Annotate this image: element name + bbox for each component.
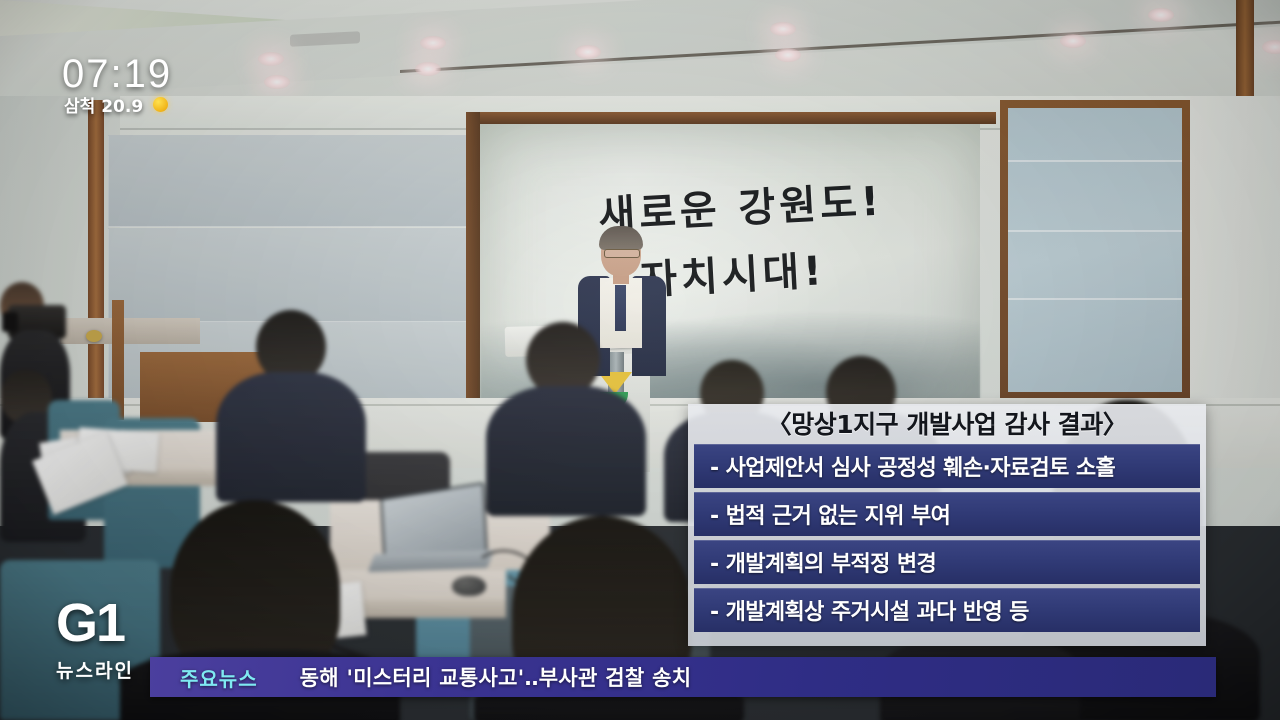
program-name: 뉴스라인 [56,656,134,683]
panel-row: - 법적 근거 없는 지위 부여 [694,492,1200,536]
channel-logo-mark: G1 [56,596,134,650]
panel-title: 〈망상1지구 개발사업 감사 결과〉 [694,408,1200,442]
news-ticker: 주요뉴스 동해 '미스터리 교통사고'‥부사관 검찰 송치 [150,657,1216,697]
audit-results-panel: 〈망상1지구 개발사업 감사 결과〉 - 사업제안서 심사 공정성 훼손·자료검… [688,404,1206,646]
broadcast-screenshot: 새로운 강원도! 자치시대! 자치시대! [0,0,1280,720]
attendee-body [216,372,366,502]
back-desk-top [60,318,200,344]
speaker-hair [599,226,643,250]
weather-location-temp: 삼척 20.9 [64,92,143,117]
ceiling-light [258,52,284,66]
ceiling-light [770,22,796,36]
panel-row-text: - 개발계획의 부적정 변경 [710,546,936,578]
ceiling-light [415,62,441,76]
ceiling-light [1060,34,1086,48]
channel-logo: G1 뉴스라인 [56,596,134,683]
ceiling-light [575,45,601,59]
speaker-glasses [604,249,640,258]
backdrop-frame-top [466,112,996,124]
attendee-body [486,386,646,516]
backdrop-frame-left [466,112,480,412]
backdrop-slogan-line2: 자치시대! [639,238,827,306]
frosted-glass [1008,108,1182,392]
sun-icon [153,97,168,112]
on-screen-clock: 07:19 [62,52,172,97]
left-wall-panel [108,228,470,322]
panel-row-text: - 법적 근거 없는 지위 부여 [710,498,950,530]
panel-row: - 사업제안서 심사 공정성 훼손·자료검토 소홀 [694,444,1200,488]
wood-pillar-left [88,100,104,400]
ticker-headline: 동해 '미스터리 교통사고'‥부사관 검찰 송치 [300,662,692,692]
ceiling-light [775,48,801,62]
speaker-tie [615,285,626,331]
desk-emblem [86,330,102,342]
panel-row: - 개발계획의 부적정 변경 [694,540,1200,584]
panel-row-list: - 사업제안서 심사 공정성 훼손·자료검토 소홀 - 법적 근거 없는 지위 … [694,444,1200,632]
panel-row-text: - 사업제안서 심사 공정성 훼손·자료검토 소홀 [710,450,1115,482]
left-wall-panel [108,135,470,227]
window-frame [1000,100,1190,400]
ticker-category-label: 주요뉴스 [180,663,258,692]
right-wall [1190,96,1280,426]
panel-row: - 개발계획상 주거시설 과다 반영 등 [694,588,1200,632]
weather-readout: 삼척 20.9 [64,92,168,117]
ceiling-light [264,75,290,89]
camera-lens [2,312,18,332]
ceiling-light [1148,8,1174,22]
panel-row-text: - 개발계획상 주거시설 과다 반영 등 [710,594,1029,626]
ceiling-light [420,36,446,50]
